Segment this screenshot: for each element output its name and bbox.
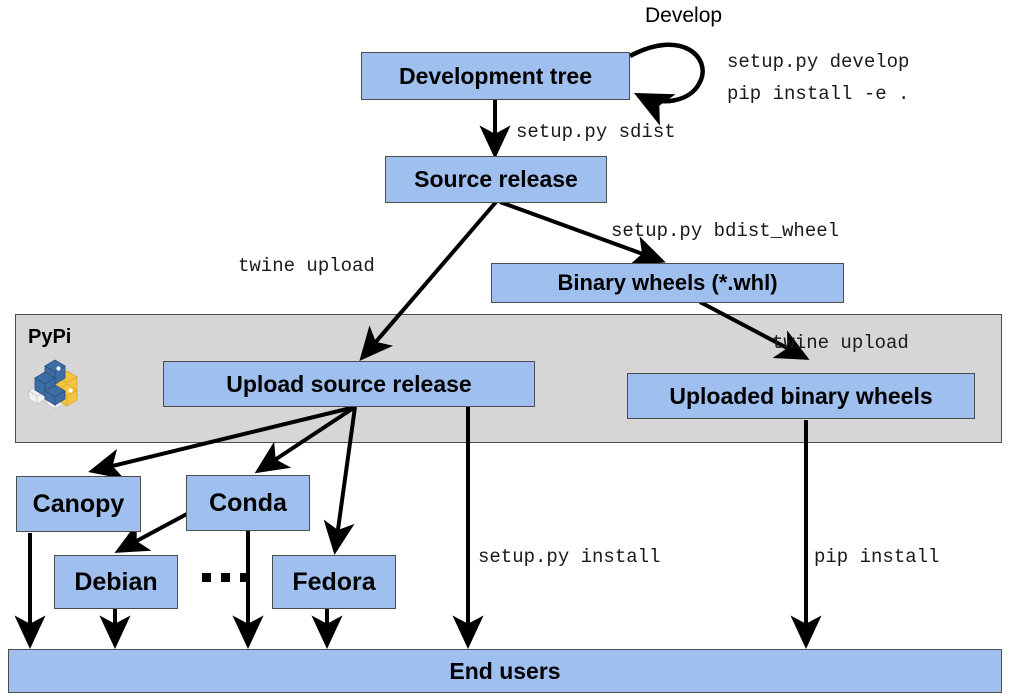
label-twine-upload-wheels: twine upload: [772, 332, 909, 354]
arrow-upload-to-fedora: [335, 407, 355, 551]
node-fedora[interactable]: Fedora: [272, 555, 396, 609]
node-binary-wheels[interactable]: Binary wheels (*.whl): [491, 263, 844, 303]
label-setup-sdist: setup.py sdist: [516, 121, 676, 143]
node-development-tree[interactable]: Development tree: [361, 52, 630, 100]
label-develop: Develop: [645, 4, 722, 28]
ellipsis-dot: [240, 573, 249, 582]
arrow-develop-self-loop: [630, 45, 703, 102]
ellipsis-dot: [221, 573, 230, 582]
diagram-canvas: PyPi: [0, 0, 1009, 698]
node-end-users[interactable]: End users: [8, 649, 1002, 693]
node-source-release[interactable]: Source release: [385, 156, 607, 203]
arrow-upload-to-conda: [258, 407, 355, 471]
label-setup-install: setup.py install: [478, 546, 660, 568]
label-pip-install-editable: pip install -e .: [727, 83, 909, 105]
node-canopy[interactable]: Canopy: [16, 476, 141, 532]
label-setup-develop: setup.py develop: [727, 51, 909, 73]
ellipsis-dots: [202, 573, 249, 582]
label-setup-bdist-wheel: setup.py bdist_wheel: [611, 220, 839, 242]
node-uploaded-binary-wheels[interactable]: Uploaded binary wheels: [627, 373, 975, 419]
node-debian[interactable]: Debian: [54, 555, 178, 609]
label-twine-upload-source: twine upload: [238, 255, 375, 277]
arrow-upload-to-canopy: [92, 407, 355, 471]
node-conda[interactable]: Conda: [186, 475, 310, 531]
ellipsis-dot: [202, 573, 211, 582]
node-upload-source-release[interactable]: Upload source release: [163, 361, 535, 407]
arrow-source-to-upload-source: [362, 202, 496, 358]
label-pip-install: pip install: [814, 546, 939, 568]
